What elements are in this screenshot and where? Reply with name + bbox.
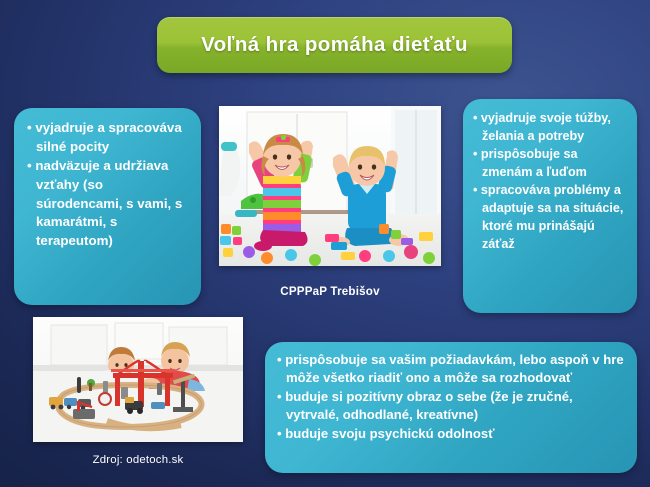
list-item: vyjadruje svoje túžby, želania a potreby bbox=[473, 109, 629, 145]
photo-children-playing bbox=[219, 106, 441, 266]
list-item: buduje svoju psychickú odolnosť bbox=[277, 425, 627, 443]
list-item: nadväzuje a udržiava vzťahy (so súrodenc… bbox=[27, 157, 191, 251]
photo-children-playing-graphic bbox=[219, 106, 441, 266]
callout-bottom: prispôsobuje sa vašim požiadavkám, lebo … bbox=[265, 342, 637, 473]
callout-right: vyjadruje svoje túžby, želania a potreby… bbox=[463, 99, 637, 313]
list-item: buduje si pozitívny obraz o sebe (že je … bbox=[277, 388, 627, 425]
caption-center: CPPPaP Trebišov bbox=[219, 285, 441, 298]
photo-train-set bbox=[33, 317, 243, 442]
callout-bottom-list: prispôsobuje sa vašim požiadavkám, lebo … bbox=[277, 351, 627, 443]
callout-left-list: vyjadruje a spracováva silné pocity nadv… bbox=[27, 119, 191, 251]
list-item: prispôsobuje sa vašim požiadavkám, lebo … bbox=[277, 351, 627, 388]
list-item: vyjadruje a spracováva silné pocity bbox=[27, 119, 191, 157]
callout-left: vyjadruje a spracováva silné pocity nadv… bbox=[14, 108, 201, 305]
list-item: spracováva problémy a adaptuje sa na sit… bbox=[473, 181, 629, 253]
list-item: prispôsobuje sa zmenám a ľuďom bbox=[473, 145, 629, 181]
photo-train-set-graphic bbox=[33, 317, 243, 442]
caption-source: Zdroj: odetoch.sk bbox=[33, 454, 243, 466]
page-title: Voľná hra pomáha dieťaťu bbox=[201, 33, 468, 57]
slide-canvas: Voľná hra pomáha dieťaťu bbox=[0, 0, 650, 487]
callout-right-list: vyjadruje svoje túžby, želania a potreby… bbox=[473, 109, 629, 253]
title-banner: Voľná hra pomáha dieťaťu bbox=[157, 17, 512, 73]
